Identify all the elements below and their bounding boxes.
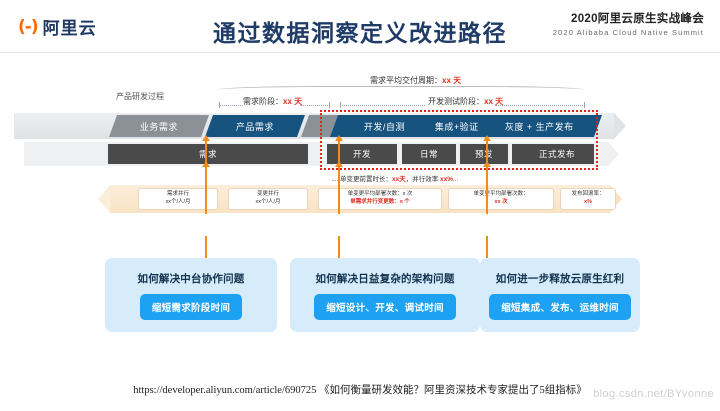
connector-arrow-down [338, 166, 340, 214]
watermark: blog.csdn.net/BYvonne [593, 388, 714, 400]
phase-tick [340, 102, 341, 108]
metric-line-2: xx个/人/月 [165, 199, 190, 207]
metric-card-deploy-count: 单变更平均部署次数：x 次 单需求并行变更数：x 个 [318, 188, 442, 210]
summit-title-cn: 2020阿里云原生实战峰会 [553, 10, 704, 26]
card-action-button[interactable]: 缩短需求阶段时间 [140, 294, 242, 320]
metric-line-2: x% [584, 199, 592, 207]
annotation-dev-phase-label: 开发测试阶段： [428, 97, 484, 106]
card-action-button[interactable]: 缩短设计、开发、调试时间 [314, 294, 456, 320]
annotation-req-phase-label: 需求阶段： [243, 97, 283, 106]
delivery-brace [216, 86, 586, 94]
process-label: 产品研发过程 [116, 91, 164, 102]
metric-line-1: 需求并行 [167, 191, 189, 199]
annotation-req-phase: 需求阶段：xx 天 [243, 96, 302, 107]
stage-label: 业务需求 [140, 120, 178, 133]
metric-card-rollback-rate: 发布回滚率： x% [560, 188, 616, 210]
phase-dotted-line [340, 105, 425, 106]
annotation-dev-phase: 开发测试阶段：xx 天 [428, 96, 503, 107]
connector-arrow-down [486, 166, 488, 214]
metric-line-2: xx 次 [494, 199, 507, 207]
annotation-lead-time: 单变更前置时长：xx天，并行效率 xx% [340, 173, 453, 183]
parallel-label: ，并行效率 [406, 176, 440, 183]
card-title: 如何解决中台协作问题 [138, 271, 245, 286]
metric-line-2: 单需求并行变更数：x 个 [350, 199, 410, 207]
phase-dotted-line [300, 105, 330, 106]
card-connector-arrow [205, 236, 207, 258]
card-title: 如何进一步释放云原生红利 [496, 271, 624, 286]
metric-line-1: 发布回滚率： [571, 191, 604, 199]
phase-tick [219, 102, 220, 108]
card-connector-arrow [338, 236, 340, 258]
annotation-avg-delivery-label: 需求平均交付周期： [370, 76, 442, 85]
insight-card-1[interactable]: 如何解决中台协作问题 缩短需求阶段时间 [105, 258, 277, 332]
phase-dotted-line [495, 105, 585, 106]
phase-tick [584, 102, 585, 108]
stage-chevron-product-req[interactable]: 产品需求 [205, 115, 305, 137]
metric-card-change-parallel: 变更并行 xx个/人/月 [228, 188, 308, 210]
metric-line-1: 变更并行 [257, 191, 279, 199]
metric-card-avg-deploy: 单变更平均部署次数： xx 次 [448, 188, 554, 210]
summit-title-en: 2020 Alibaba Cloud Native Summit [553, 28, 704, 37]
card-action-button[interactable]: 缩短集成、发布、运维时间 [489, 294, 631, 320]
lead-time-value: xx天 [392, 176, 406, 183]
highlight-box-dev-test [320, 110, 598, 170]
insight-cards: 如何解决中台协作问题 缩短需求阶段时间 如何解决日益复杂的架构问题 缩短设计、开… [0, 250, 720, 330]
insight-card-3[interactable]: 如何进一步释放云原生红利 缩短集成、发布、运维时间 [480, 258, 640, 332]
annotation-avg-delivery: 需求平均交付周期：xx 天 [370, 75, 461, 86]
process-diagram: 产品研发过程 需求平均交付周期：xx 天 需求阶段：xx 天 开发测试阶段：xx… [0, 58, 720, 238]
phase-dotted-line [219, 105, 243, 106]
annotation-avg-delivery-value: xx 天 [442, 76, 461, 85]
summit-branding: 2020阿里云原生实战峰会 2020 Alibaba Cloud Native … [553, 10, 704, 37]
insight-card-2[interactable]: 如何解决日益复杂的架构问题 缩短设计、开发、调试时间 [290, 258, 480, 332]
stage-chevron-business-req[interactable]: 业务需求 [109, 115, 209, 137]
connector-arrow-down [205, 166, 207, 214]
card-connector-arrow [486, 236, 488, 258]
card-title: 如何解决日益复杂的架构问题 [315, 271, 454, 286]
slide-header: (-) 阿里云 通过数据洞察定义改进路径 2020阿里云原生实战峰会 2020 … [0, 0, 720, 52]
metric-line-2: xx个/人/月 [255, 199, 280, 207]
metric-dotted-line [448, 180, 458, 181]
stage-label: 产品需求 [236, 120, 274, 133]
lead-time-label: 单变更前置时长： [340, 176, 392, 183]
metric-line-1: 单变更平均部署次数： [473, 191, 528, 199]
header-divider [0, 52, 720, 53]
slide: (-) 阿里云 通过数据洞察定义改进路径 2020阿里云原生实战峰会 2020 … [0, 0, 720, 411]
substage-label: 需求 [199, 148, 217, 160]
phase-tick [329, 102, 330, 108]
metric-line-1: 单变更平均部署次数：x 次 [348, 191, 413, 199]
